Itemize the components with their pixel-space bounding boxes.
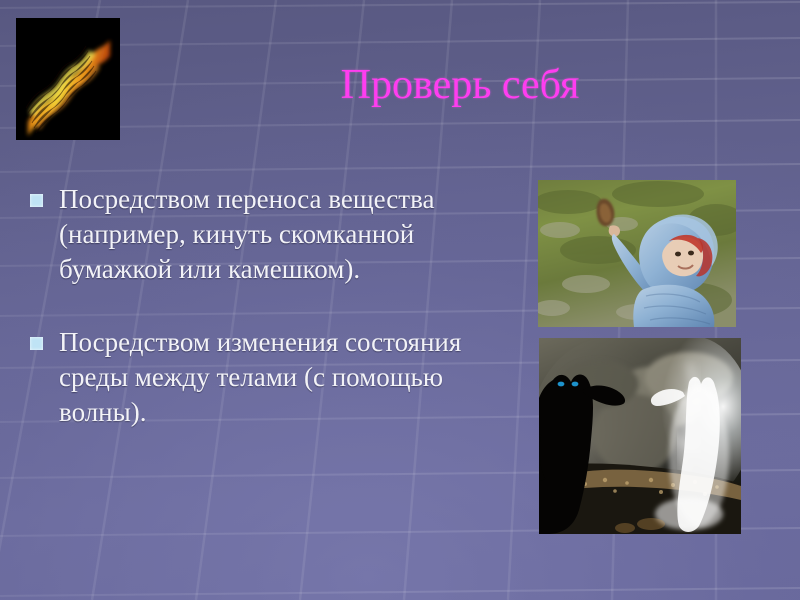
square-bullet-icon [30,337,43,350]
bullet-text: Посредством изменения состояния среды ме… [59,325,520,430]
square-bullet-icon [30,194,43,207]
bullet-text: Посредством переноса вещества (например,… [59,182,520,287]
wave-interference-logo [16,18,120,140]
list-item: Посредством изменения состояния среды ме… [30,325,520,430]
photo-child-throwing-stone [538,180,736,327]
list-item: Посредством переноса вещества (например,… [30,182,520,287]
photo-cats-silhouettes [539,338,741,534]
page-title: Проверь себя [140,62,780,108]
bullet-list: Посредством переноса вещества (например,… [30,182,520,469]
presentation-slide: Проверь себя Посредством переноса вещест… [0,0,800,600]
